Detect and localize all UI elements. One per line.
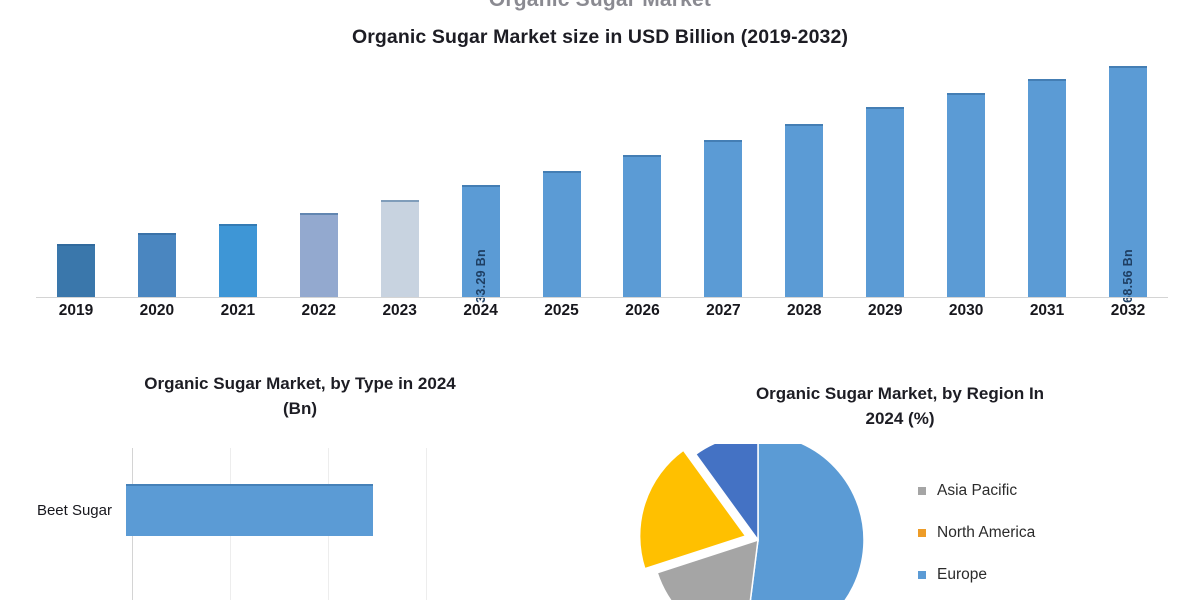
column-bar-slot: 33.29 Bn	[441, 54, 521, 297]
column-bar	[704, 140, 742, 297]
column-chart-x-tick: 2024	[441, 302, 521, 320]
column-chart-x-axis: 2019202020212022202320242025202620272028…	[36, 302, 1168, 320]
pie-slices-group	[640, 444, 864, 600]
region-pie-area	[600, 444, 930, 600]
type-chart-bar-row: Beet Sugar	[0, 478, 600, 542]
column-chart-title: Organic Sugar Market size in USD Billion…	[0, 18, 1200, 49]
column-chart-x-tick: 2023	[360, 302, 440, 320]
type-chart-title-line1: Organic Sugar Market, by Type in 2024	[144, 374, 455, 393]
market-size-column-chart: Organic Sugar Market size in USD Billion…	[0, 18, 1200, 358]
column-bar-slot	[117, 54, 197, 297]
column-bar	[543, 171, 581, 297]
column-chart-plot-area: 33.29 Bn68.56 Bn	[36, 54, 1168, 298]
column-bar	[381, 200, 419, 297]
column-chart-x-tick: 2021	[198, 302, 278, 320]
column-chart-x-tick: 2025	[522, 302, 602, 320]
column-bar	[219, 224, 257, 297]
pie-legend-item: Asia Pacific	[918, 470, 1198, 512]
type-chart-bar	[126, 484, 373, 536]
region-chart-title: Organic Sugar Market, by Region In 2024 …	[665, 382, 1135, 431]
pie-legend-label: North America	[937, 524, 1035, 542]
column-bar: 68.56 Bn	[1109, 66, 1147, 297]
column-bar	[138, 233, 176, 297]
column-chart-x-tick: 2019	[36, 302, 116, 320]
region-pie-svg	[600, 444, 930, 600]
column-bar	[623, 155, 661, 297]
market-by-type-chart: Organic Sugar Market, by Type in 2024 (B…	[0, 372, 600, 600]
pie-legend-item: Europe	[918, 554, 1198, 596]
column-bar-slot	[36, 54, 116, 297]
column-bar-slot	[926, 54, 1006, 297]
type-chart-title-line2: (Bn)	[283, 399, 317, 418]
column-chart-x-tick: 2032	[1088, 302, 1168, 320]
type-chart-category-label: Beet Sugar	[0, 502, 126, 519]
column-bar-value-label: 33.29 Bn	[474, 249, 488, 303]
infographic-page: Organic Sugar Market Organic Sugar Marke…	[0, 0, 1200, 600]
column-chart-x-tick: 2028	[764, 302, 844, 320]
column-chart-x-tick: 2029	[845, 302, 925, 320]
type-chart-title: Organic Sugar Market, by Type in 2024 (B…	[65, 372, 535, 421]
column-bar	[947, 93, 985, 297]
column-bar	[57, 244, 95, 297]
column-bar-slot	[522, 54, 602, 297]
column-bar	[300, 213, 338, 297]
column-bar-slot	[602, 54, 682, 297]
column-chart-x-tick: 2031	[1007, 302, 1087, 320]
column-bar	[866, 107, 904, 297]
region-pie-legend: Asia PacificNorth AmericaEurope	[918, 470, 1198, 596]
legend-swatch-icon	[918, 487, 926, 495]
clipped-header-title: Organic Sugar Market	[0, 0, 1200, 12]
column-bar-value-label: 68.56 Bn	[1121, 249, 1135, 303]
pie-legend-label: Europe	[937, 566, 987, 584]
market-by-region-chart: Organic Sugar Market, by Region In 2024 …	[600, 382, 1200, 600]
column-chart-x-tick: 2026	[602, 302, 682, 320]
pie-legend-label: Asia Pacific	[937, 482, 1017, 500]
column-bar	[785, 124, 823, 297]
column-bar: 33.29 Bn	[462, 185, 500, 297]
column-bar-slot	[360, 54, 440, 297]
pie-slice	[745, 444, 864, 600]
region-chart-title-line1: Organic Sugar Market, by Region In	[756, 384, 1044, 403]
legend-swatch-icon	[918, 571, 926, 579]
type-chart-plot-area: Beet Sugar	[0, 444, 600, 600]
column-bar-slot	[764, 54, 844, 297]
column-chart-x-tick: 2022	[279, 302, 359, 320]
column-bar-slot	[1007, 54, 1087, 297]
pie-legend-item: North America	[918, 512, 1198, 554]
column-bar-slot	[845, 54, 925, 297]
region-chart-title-line2: 2024 (%)	[866, 409, 935, 428]
column-bar	[1028, 79, 1066, 297]
column-chart-baseline	[36, 297, 1168, 298]
column-bars-group: 33.29 Bn68.56 Bn	[36, 54, 1168, 297]
column-bar-slot	[279, 54, 359, 297]
column-bar-slot	[683, 54, 763, 297]
column-chart-x-tick: 2020	[117, 302, 197, 320]
column-bar-slot	[198, 54, 278, 297]
column-bar-slot: 68.56 Bn	[1088, 54, 1168, 297]
column-chart-x-tick: 2030	[926, 302, 1006, 320]
column-chart-x-tick: 2027	[683, 302, 763, 320]
legend-swatch-icon	[918, 529, 926, 537]
